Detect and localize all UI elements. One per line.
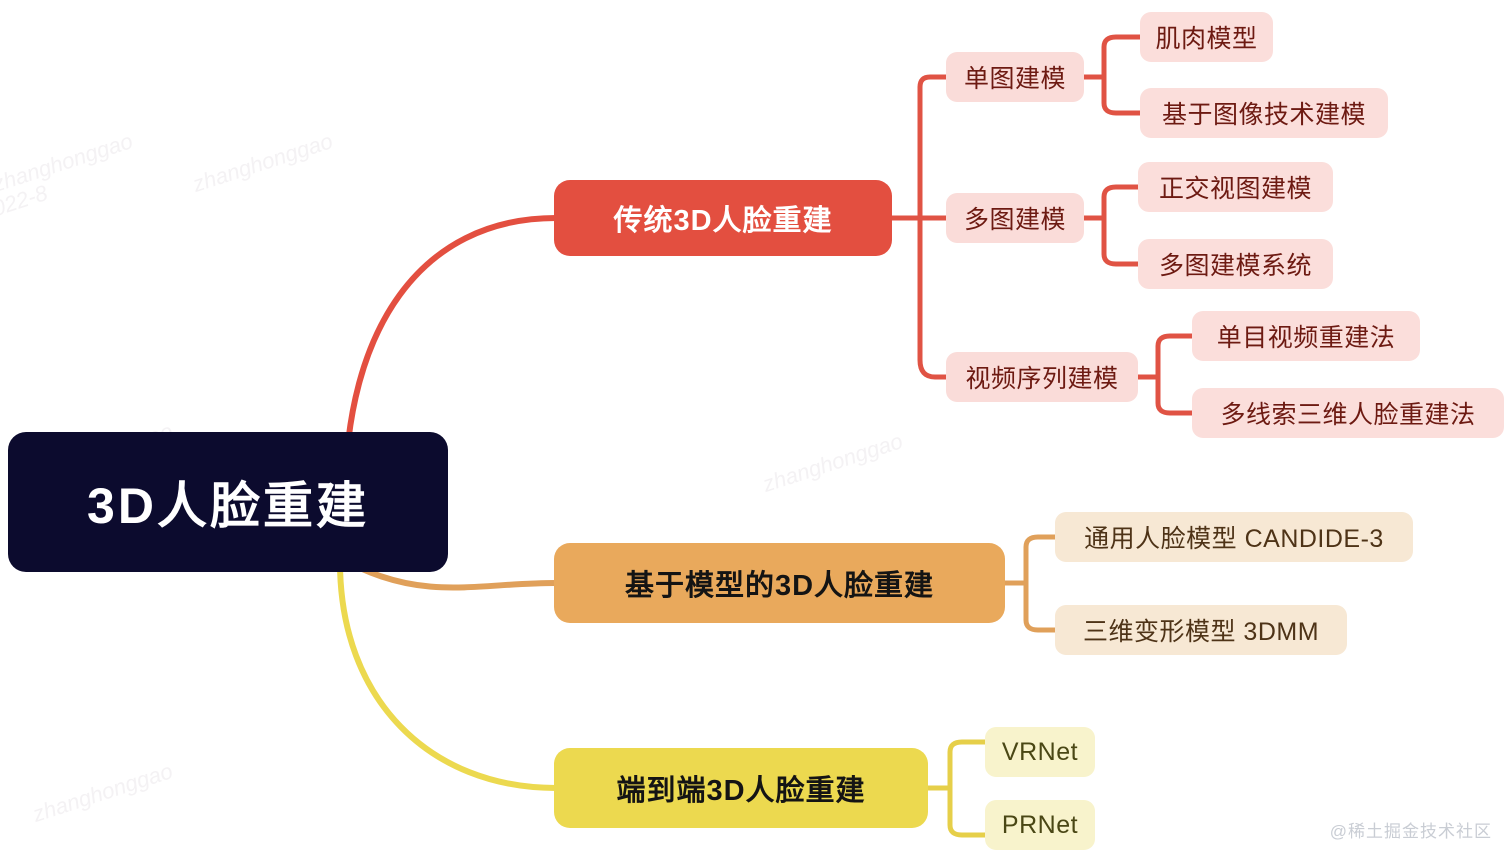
leaf-node-multi-cue-3d-face-reconstruction[interactable]: 多线索三维人脸重建法 bbox=[1192, 388, 1504, 438]
link-end-to-end-bracket bbox=[950, 742, 985, 835]
root-node[interactable]: 3D人脸重建 bbox=[8, 432, 448, 572]
link-to-single-image bbox=[920, 77, 946, 87]
leaf-node-image-based-modeling[interactable]: 基于图像技术建模 bbox=[1140, 88, 1388, 138]
site-watermark: @稀土掘金技术社区 bbox=[1330, 817, 1492, 842]
leaf-node-monocular-video-reconstruction[interactable]: 单目视频重建法 bbox=[1192, 311, 1420, 361]
background-watermark: zhanghonggao bbox=[760, 428, 907, 498]
leaf-node-orthogonal-view-modeling[interactable]: 正交视图建模 bbox=[1138, 162, 1333, 212]
background-watermark: zhanghonggao bbox=[190, 128, 337, 198]
branch-node-end-to-end[interactable]: 端到端3D人脸重建 bbox=[554, 748, 928, 828]
link-model-based-bracket bbox=[1026, 537, 1055, 630]
sub-node-multi-image-modeling[interactable]: 多图建模 bbox=[946, 193, 1084, 243]
leaf-node-3dmm[interactable]: 三维变形模型 3DMM bbox=[1055, 605, 1347, 655]
link-single-image-bracket bbox=[1104, 37, 1140, 113]
sub-node-video-sequence-modeling[interactable]: 视频序列建模 bbox=[946, 352, 1138, 402]
background-watermark: zhanghonggao bbox=[30, 758, 177, 828]
link-root-to-end-to-end bbox=[340, 562, 556, 788]
leaf-node-multi-image-modeling-system[interactable]: 多图建模系统 bbox=[1138, 239, 1333, 289]
leaf-node-candide-3[interactable]: 通用人脸模型 CANDIDE-3 bbox=[1055, 512, 1413, 562]
mindmap-canvas: zhanghonggao 2022-8 zhanghonggao zhangho… bbox=[0, 0, 1512, 864]
leaf-node-prnet[interactable]: PRNet bbox=[985, 800, 1095, 850]
leaf-node-muscle-model[interactable]: 肌肉模型 bbox=[1140, 12, 1273, 62]
sub-node-single-image-modeling[interactable]: 单图建模 bbox=[946, 52, 1084, 102]
branch-node-traditional[interactable]: 传统3D人脸重建 bbox=[554, 180, 892, 256]
link-video-bracket bbox=[1158, 336, 1192, 413]
leaf-node-vrnet[interactable]: VRNet bbox=[985, 727, 1095, 777]
link-to-video-sequence bbox=[920, 360, 946, 377]
link-multi-image-bracket bbox=[1104, 187, 1138, 264]
branch-node-model-based[interactable]: 基于模型的3D人脸重建 bbox=[554, 543, 1005, 623]
